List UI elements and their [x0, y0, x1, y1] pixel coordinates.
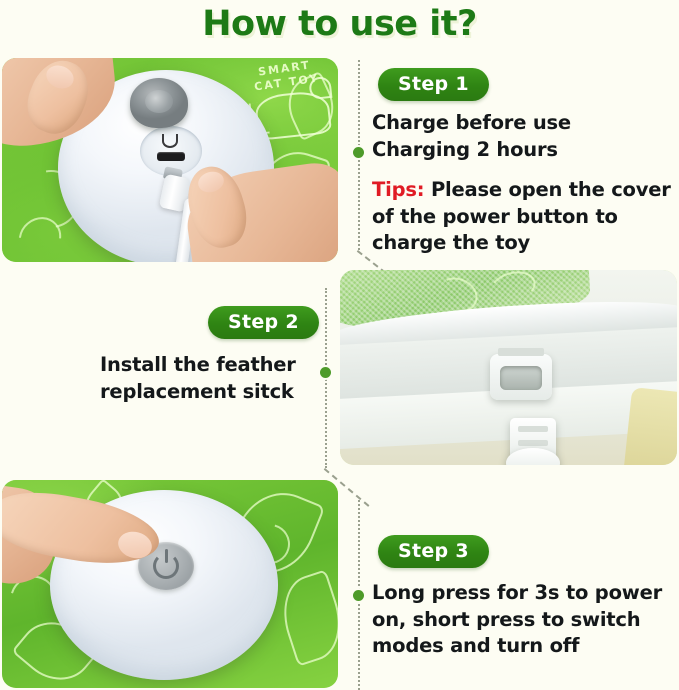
- clip-bar-2: [518, 440, 548, 446]
- port-cover: [130, 78, 188, 128]
- step-3-badge: Step 3: [378, 535, 489, 568]
- step-1-tips: Tips: Please open the cover of the power…: [372, 177, 672, 257]
- page-title: How to use it?: [0, 4, 679, 44]
- connector-line-step2: [325, 288, 327, 468]
- bullet-dot-step3: [353, 590, 364, 601]
- step-2-line-2: replacement sitck: [100, 379, 328, 406]
- step-1-line-2: Charging 2 hours: [372, 137, 672, 164]
- slot-top-tab: [498, 348, 544, 356]
- usb-c-port: [157, 152, 185, 161]
- step-3-text: Long press for 3s to power on, short pre…: [372, 580, 674, 660]
- bullet-dot-step1: [353, 147, 364, 158]
- step-3-line-1: Long press for 3s to power: [372, 580, 674, 607]
- power-button-photo: [2, 480, 338, 688]
- step-2-text: Install the feather replacement sitck: [100, 352, 328, 405]
- step-1-line-1: Charge before use: [372, 110, 672, 137]
- step-3-line-3: modes and turn off: [372, 633, 674, 660]
- step-1-text: Charge before use Charging 2 hours Tips:…: [372, 110, 672, 257]
- step-2-line-1: Install the feather: [100, 352, 328, 379]
- step-1-badge: Step 1: [378, 68, 489, 101]
- infographic-canvas: How to use it? SMART CAT TOY: [0, 0, 679, 690]
- clip-bar-1: [518, 426, 548, 432]
- tips-label: Tips:: [372, 178, 424, 201]
- bullet-dot-step2: [320, 367, 331, 378]
- feather-slot-photo: [340, 270, 677, 465]
- power-symbol-icon: [153, 553, 179, 579]
- step-2-badge: Step 2: [208, 306, 319, 339]
- step-3-line-2: on, short press to switch: [372, 607, 674, 634]
- cover-hinge-loop: [162, 134, 178, 148]
- charging-photo: SMART CAT TOY: [2, 58, 338, 262]
- feather-slot-hole: [500, 366, 542, 390]
